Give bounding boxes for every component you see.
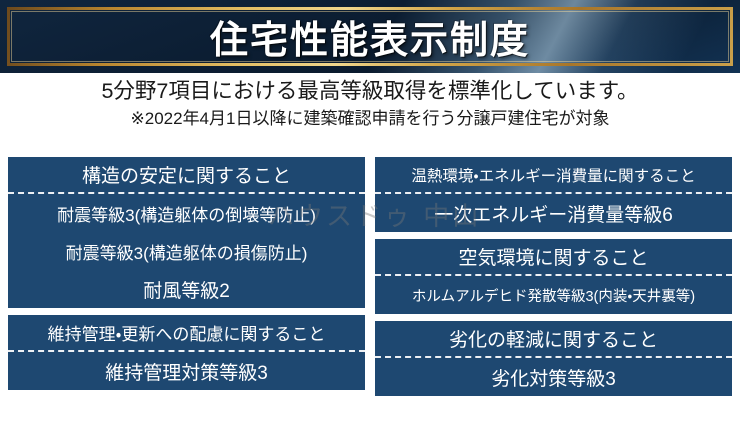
category-header: 維持管理・更新への配慮に関すること [8,315,365,352]
title-banner: 住宅性能表示制度 [0,0,740,73]
page-title: 住宅性能表示制度 [0,0,740,73]
category-group-thermal: 温熱環境・エネルギー消費量に関すること 一次エネルギー消費量等級6 [375,157,732,232]
category-header: 空気環境に関すること [375,239,732,276]
subtitle-main-text: 5分野7項目における最高等級取得を標準化しています。 [0,76,740,106]
category-item: 維持管理対策等級3 [8,352,365,390]
category-group-air: 空気環境に関すること ホルムアルデヒド発散等級3(内装・天井裏等) [375,239,732,314]
subtitle-block: 5分野7項目における最高等級取得を標準化しています。 ※2022年4月1日以降に… [0,76,740,132]
category-header: 劣化の軽減に関すること [375,321,732,358]
category-item: 劣化対策等級3 [375,358,732,396]
performance-table: 構造の安定に関すること 耐震等級3(構造躯体の倒壊等防止) 耐震等級3(構造躯体… [8,157,732,425]
category-item: 耐震等級3(構造躯体の損傷防止) [8,232,365,270]
right-column: 温熱環境・エネルギー消費量に関すること 一次エネルギー消費量等級6 空気環境に関… [375,157,732,425]
subtitle-note-text: ※2022年4月1日以降に建築確認申請を行う分譲戸建住宅が対象 [0,106,740,132]
category-header: 構造の安定に関すること [8,157,365,194]
left-column: 構造の安定に関すること 耐震等級3(構造躯体の倒壊等防止) 耐震等級3(構造躯体… [8,157,365,425]
category-group-maintenance: 維持管理・更新への配慮に関すること 維持管理対策等級3 [8,315,365,390]
category-group-durability: 劣化の軽減に関すること 劣化対策等級3 [375,321,732,396]
category-item: 耐震等級3(構造躯体の倒壊等防止) [8,194,365,232]
category-item: ホルムアルデヒド発散等級3(内装・天井裏等) [375,276,732,314]
category-item: 耐風等級2 [8,270,365,308]
category-item: 一次エネルギー消費量等級6 [375,194,732,232]
category-group-structure: 構造の安定に関すること 耐震等級3(構造躯体の倒壊等防止) 耐震等級3(構造躯体… [8,157,365,308]
category-header: 温熱環境・エネルギー消費量に関すること [375,157,732,194]
